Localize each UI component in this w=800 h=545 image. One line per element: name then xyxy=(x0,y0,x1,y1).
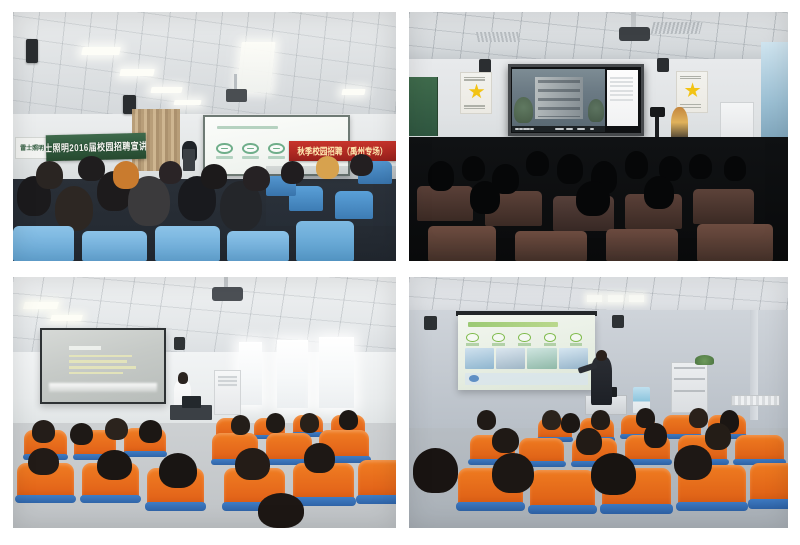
ceiling-light-icon xyxy=(81,47,121,55)
air-vent xyxy=(650,22,702,34)
slide-stat-label xyxy=(518,343,530,346)
ceiling-light-icon xyxy=(50,315,82,321)
audience-head xyxy=(258,493,304,528)
audience-head xyxy=(576,428,603,456)
slide-glow xyxy=(49,383,157,392)
audience-head xyxy=(492,453,534,493)
photo-top-right[interactable] xyxy=(409,12,788,261)
audience-head xyxy=(689,154,712,179)
ceiling-light-icon xyxy=(24,302,60,309)
audience-head xyxy=(644,423,667,448)
speaker-icon xyxy=(26,39,38,63)
slide-icon-label xyxy=(268,156,285,159)
podium xyxy=(183,149,194,171)
slide-stat-circle xyxy=(518,333,530,342)
potted-plant xyxy=(695,355,714,365)
ceiling-light-icon xyxy=(608,295,623,303)
slide-stat-label xyxy=(492,343,504,346)
seat xyxy=(82,231,147,261)
ceiling-light-icon xyxy=(150,87,182,93)
audience-head xyxy=(413,448,458,493)
audience-head xyxy=(70,423,93,446)
slide-footer-badge xyxy=(469,375,479,382)
tree xyxy=(588,99,604,122)
slide-text-line xyxy=(69,355,133,357)
audience-head xyxy=(97,450,131,480)
tree xyxy=(514,97,533,123)
audience-head xyxy=(231,415,250,435)
laptop-icon xyxy=(182,396,201,407)
air-conditioner xyxy=(214,370,241,415)
slide-icon-circle xyxy=(242,143,259,154)
audience-head xyxy=(557,154,584,184)
ceiling-grid xyxy=(13,12,396,122)
slide-icon-circle xyxy=(268,143,285,154)
audience-head xyxy=(576,181,610,216)
audience-head xyxy=(526,151,549,176)
slide-title-bar xyxy=(468,322,558,327)
audience-head xyxy=(428,161,455,191)
seat xyxy=(530,470,594,510)
projection-screen xyxy=(458,315,594,390)
photo-bottom-right[interactable] xyxy=(409,277,788,528)
audience-head xyxy=(36,161,63,188)
audience-head xyxy=(139,420,162,443)
window xyxy=(239,342,262,405)
document-pane xyxy=(607,70,638,126)
audience-head xyxy=(470,181,500,213)
green-door xyxy=(409,77,438,137)
slide-photo-strip xyxy=(465,348,588,369)
window xyxy=(761,42,788,142)
audience-head xyxy=(591,410,610,430)
slide-stat-label xyxy=(570,343,582,346)
ceiling-grid xyxy=(409,12,788,64)
slide-text-line xyxy=(69,372,123,374)
audience-head xyxy=(243,166,270,191)
audience-head xyxy=(32,420,55,443)
seat xyxy=(693,189,754,224)
wall-logo-text: 雷士照明 xyxy=(20,143,44,152)
seat xyxy=(358,460,396,500)
ceiling-light-icon xyxy=(342,89,366,95)
audience-head xyxy=(477,410,496,430)
media-control-bar xyxy=(512,126,605,133)
slide-stat-label xyxy=(544,343,556,346)
seat xyxy=(155,226,220,261)
seat xyxy=(606,229,678,261)
slide-stat-circle xyxy=(466,333,478,342)
seat xyxy=(13,226,74,261)
photo-collage: 雷士照明 雷士照明2016届校园招聘宣讲会 秋季校园招聘（禹州专场） xyxy=(0,0,800,545)
audience-head xyxy=(674,445,712,480)
building-windows xyxy=(538,80,580,117)
seat xyxy=(335,191,373,218)
presenter-head xyxy=(178,372,189,383)
slide-photo xyxy=(496,348,525,369)
seat xyxy=(417,186,474,221)
scene-bottom-left xyxy=(13,277,396,528)
slide-text-line xyxy=(69,360,128,362)
slide-icon-label xyxy=(242,156,259,159)
seat xyxy=(428,226,496,261)
slide-text-line xyxy=(69,366,136,368)
audience-head xyxy=(281,161,304,183)
audience-head xyxy=(705,423,732,451)
presenter-head xyxy=(596,350,607,361)
projector-icon xyxy=(226,89,247,101)
audience-head xyxy=(105,418,128,441)
slide-footer xyxy=(465,373,588,386)
speaker-icon xyxy=(174,337,185,350)
wall-radiator xyxy=(731,395,780,406)
audience-head xyxy=(462,156,485,181)
audience-head xyxy=(689,408,708,428)
ceiling-light-icon xyxy=(587,295,602,303)
audience-head xyxy=(159,161,182,183)
audience-head xyxy=(350,154,373,176)
projection-screen xyxy=(508,64,644,136)
speaker-icon xyxy=(424,316,437,330)
window xyxy=(277,340,308,408)
video-frame xyxy=(512,69,605,126)
projector-icon xyxy=(212,287,243,301)
ceiling-light-icon xyxy=(119,69,155,76)
slide-title-bar xyxy=(217,126,277,129)
seat xyxy=(697,224,773,261)
seat xyxy=(750,463,788,506)
seat xyxy=(735,435,784,463)
seat xyxy=(515,231,587,261)
audience-head xyxy=(644,176,674,208)
camera-icon xyxy=(650,107,665,117)
audience-head xyxy=(28,448,59,476)
audience-head xyxy=(113,161,140,188)
slide-stat-circle xyxy=(492,333,504,342)
projector-icon xyxy=(619,27,649,41)
audience-head xyxy=(55,186,93,231)
audience-head xyxy=(235,448,269,481)
photo-bottom-left[interactable] xyxy=(13,277,396,528)
audience-head xyxy=(591,453,636,496)
audience-head xyxy=(724,156,747,181)
wall-logo: 雷士照明 xyxy=(15,137,49,159)
projection-screen xyxy=(40,328,166,403)
ceiling-light-icon xyxy=(629,295,644,303)
speaker-icon xyxy=(657,58,669,72)
audience-head xyxy=(339,410,358,430)
scene-bottom-right xyxy=(409,277,788,528)
slide-icon-circle xyxy=(216,143,233,154)
audience-head xyxy=(78,156,105,181)
seat xyxy=(296,221,353,261)
audience-head xyxy=(266,413,285,433)
audience-head xyxy=(316,156,339,178)
audience-head xyxy=(304,443,335,473)
white-cabinet xyxy=(671,362,709,412)
audience-head xyxy=(542,410,561,430)
slide-icon-label xyxy=(216,156,233,159)
audience-head xyxy=(159,453,197,488)
wall-poster xyxy=(460,72,492,114)
slide-stat-label xyxy=(466,343,478,346)
speaker-icon xyxy=(612,315,624,329)
audience-head xyxy=(492,428,519,453)
seat xyxy=(227,231,288,261)
air-vent xyxy=(476,32,520,42)
audience-head xyxy=(201,164,228,189)
scene-top-left: 雷士照明 雷士照明2016届校园招聘宣讲会 秋季校园招聘（禹州专场） xyxy=(13,12,396,261)
slide-photo xyxy=(527,348,556,369)
window xyxy=(319,337,353,407)
audience-head xyxy=(625,151,648,178)
star-icon xyxy=(468,84,484,100)
green-banner-text: 雷士照明2016届校园招聘宣讲会 xyxy=(45,139,145,156)
red-banner-text: 秋季校园招聘（禹州专场） xyxy=(297,145,387,158)
star-icon xyxy=(684,82,700,98)
projector-mount xyxy=(631,12,636,28)
building-photo xyxy=(535,77,583,119)
photo-top-left[interactable]: 雷士照明 雷士照明2016届校园招聘宣讲会 秋季校园招聘（禹州专场） xyxy=(13,12,396,261)
slide-stat-circle xyxy=(570,333,582,342)
scene-top-right xyxy=(409,12,788,261)
slide-photo xyxy=(465,348,494,369)
ceiling-light-icon xyxy=(236,42,276,92)
audience-head xyxy=(300,413,319,433)
slide-header xyxy=(69,346,101,350)
slide-stat-circle xyxy=(544,333,556,342)
red-banner: 秋季校园招聘（禹州专场） xyxy=(289,141,396,161)
audience-head xyxy=(561,413,580,433)
